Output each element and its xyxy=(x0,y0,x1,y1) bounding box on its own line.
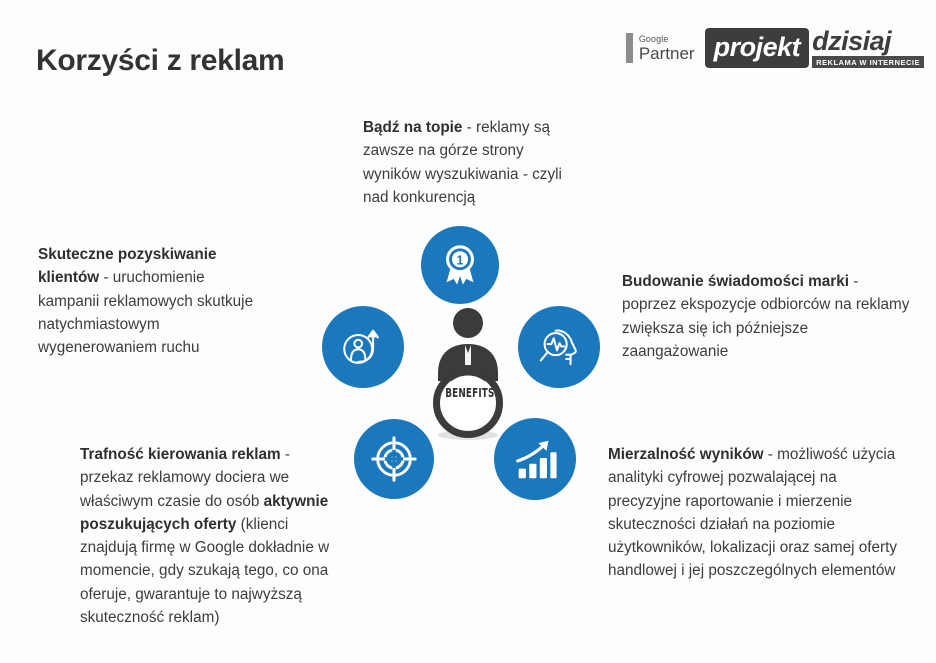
benefits-center-label: BENEFITS xyxy=(445,386,493,400)
google-partner-badge: Google Partner xyxy=(626,33,695,63)
benefits-diagram: 1 xyxy=(318,222,618,500)
award-ribbon-icon: 1 xyxy=(437,242,483,288)
benefit-heading-right-bottom: Mierzalność wyników xyxy=(608,446,764,463)
node-left xyxy=(322,306,404,388)
dzisiaj-block: dzisiaj REKLAMA W INTERNECIE xyxy=(812,28,924,68)
target-crosshair-icon xyxy=(370,435,418,483)
benefit-body-right-bottom: - możliwość użycia analityki cyfrowej po… xyxy=(608,446,897,579)
partner-label: Partner xyxy=(639,45,695,62)
logo-tagline: REKLAMA W INTERNECIE xyxy=(812,56,924,68)
page-title: Korzyści z reklam xyxy=(36,44,284,78)
benefits-person-figure xyxy=(420,307,516,442)
google-partner-words: Google Partner xyxy=(639,35,695,62)
projekt-wordmark: projekt xyxy=(705,28,810,68)
benefit-text-left-bottom: Trafność kierowania reklam - przekaz rek… xyxy=(80,443,338,629)
benefit-heading-right-top: Budowanie świadomości marki xyxy=(622,273,849,290)
bar-chart-arrow-icon xyxy=(511,435,559,483)
head-magnifier-icon xyxy=(534,322,584,372)
benefit-heading-left-bottom: Trafność kierowania reklam xyxy=(80,446,281,463)
brand-logo: Google Partner projekt dzisiaj REKLAMA W… xyxy=(626,28,924,68)
user-growth-arrow-icon xyxy=(338,322,388,372)
google-label: Google xyxy=(639,35,695,44)
svg-text:1: 1 xyxy=(457,253,464,267)
google-partner-bar-icon xyxy=(626,33,633,63)
node-right xyxy=(518,306,600,388)
node-top: 1 xyxy=(421,226,499,304)
projekt-dzisiaj-logo: projekt dzisiaj REKLAMA W INTERNECIE xyxy=(705,28,924,68)
dzisiaj-wordmark: dzisiaj xyxy=(812,28,924,55)
benefit-text-right-bottom: Mierzalność wyników - możliwość użycia a… xyxy=(608,443,898,583)
benefit-heading-top: Bądź na topie xyxy=(363,119,462,136)
benefit-text-right-top: Budowanie świadomości marki - poprzez ek… xyxy=(622,270,914,363)
benefit-text-top: Bądź na topie - reklamy są zawsze na gór… xyxy=(363,116,578,209)
benefit-text-left-top: Skuteczne pozyskiwanie klientów - urucho… xyxy=(38,243,260,359)
